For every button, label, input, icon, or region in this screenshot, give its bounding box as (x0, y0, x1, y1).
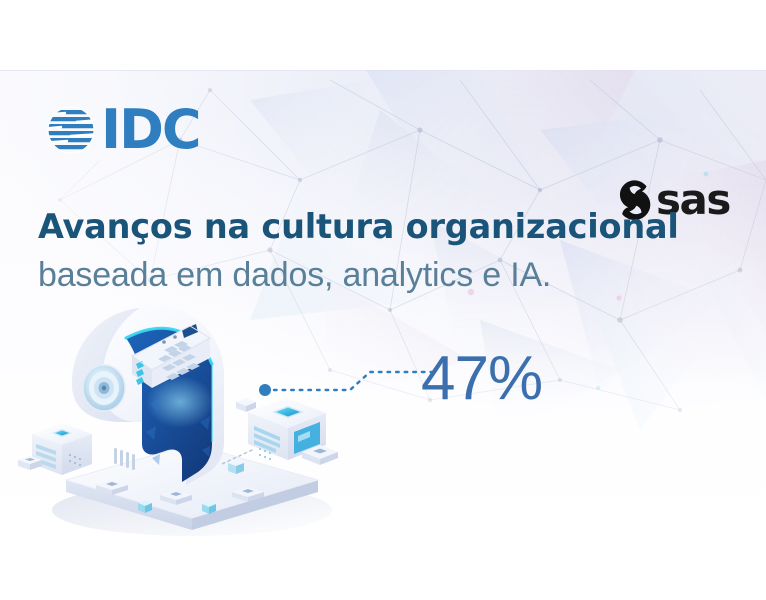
connector-origin-dot (259, 384, 271, 396)
isometric-ai-head-illustration (14, 292, 374, 536)
stat-connector-line (258, 358, 438, 404)
idc-logo[interactable]: IDC (44, 103, 200, 157)
server-box-right (222, 398, 338, 465)
idc-globe-icon (44, 103, 98, 157)
server-box-left (18, 423, 92, 475)
slide-content-band: IDC sas Avanços na cultura organizaciona… (0, 70, 766, 536)
headline-line-1: Avanços na cultura organizacional (38, 206, 728, 248)
headline-block: Avanços na cultura organizacional basead… (38, 206, 728, 296)
idc-wordmark: IDC (101, 103, 200, 157)
slide-canvas: IDC sas Avanços na cultura organizaciona… (0, 0, 766, 600)
headline-line-2: baseada em dados, analytics e IA. (38, 254, 728, 296)
stat-value: 47% (421, 348, 542, 410)
eye-sensor (83, 365, 125, 411)
logo-row: IDC sas (0, 70, 766, 180)
